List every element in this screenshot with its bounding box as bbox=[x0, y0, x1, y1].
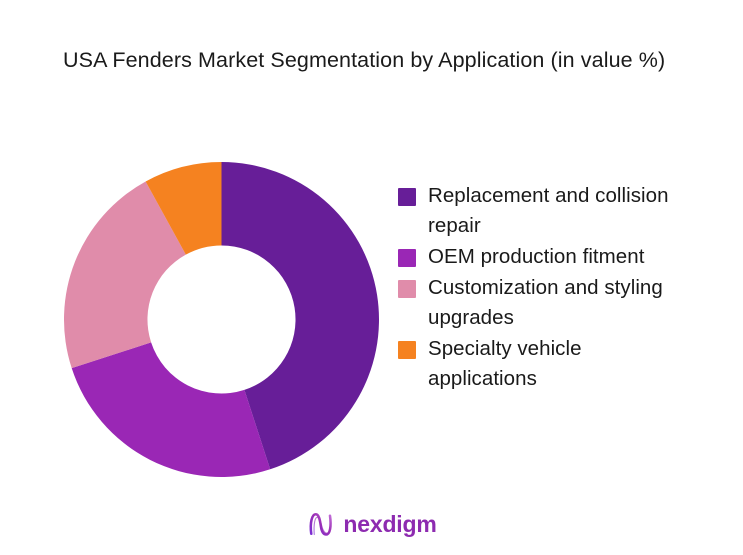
legend-swatch-icon-2 bbox=[398, 280, 416, 298]
legend-swatch-icon-3 bbox=[398, 341, 416, 359]
chart-legend: Replacement and collision repair OEM pro… bbox=[398, 181, 698, 395]
page-title: USA Fenders Market Segmentation by Appli… bbox=[63, 44, 743, 76]
legend-label-2: Customization and styling upgrades bbox=[428, 273, 683, 333]
donut-slice[interactable] bbox=[72, 342, 270, 477]
donut-chart-svg bbox=[64, 162, 379, 477]
legend-label-0: Replacement and collision repair bbox=[428, 181, 683, 241]
donut-chart bbox=[64, 162, 379, 477]
chart-page: USA Fenders Market Segmentation by Appli… bbox=[0, 0, 743, 555]
legend-item-customization-and-styling-upgrades[interactable]: Customization and styling upgrades bbox=[398, 273, 698, 333]
legend-label-3: Specialty vehicle applications bbox=[428, 334, 683, 394]
donut-slice-group bbox=[64, 162, 379, 477]
legend-swatch-icon-0 bbox=[398, 188, 416, 206]
legend-label-1: OEM production fitment bbox=[428, 242, 644, 272]
nexdigm-n-mark-icon bbox=[306, 509, 336, 539]
footer-branding: nexdigm bbox=[0, 509, 743, 539]
legend-swatch-icon-1 bbox=[398, 249, 416, 267]
brand-name: nexdigm bbox=[343, 509, 436, 539]
legend-item-specialty-vehicle-applications[interactable]: Specialty vehicle applications bbox=[398, 334, 698, 394]
legend-item-oem-production-fitment[interactable]: OEM production fitment bbox=[398, 242, 698, 272]
legend-item-replacement-and-collision-repair[interactable]: Replacement and collision repair bbox=[398, 181, 698, 241]
